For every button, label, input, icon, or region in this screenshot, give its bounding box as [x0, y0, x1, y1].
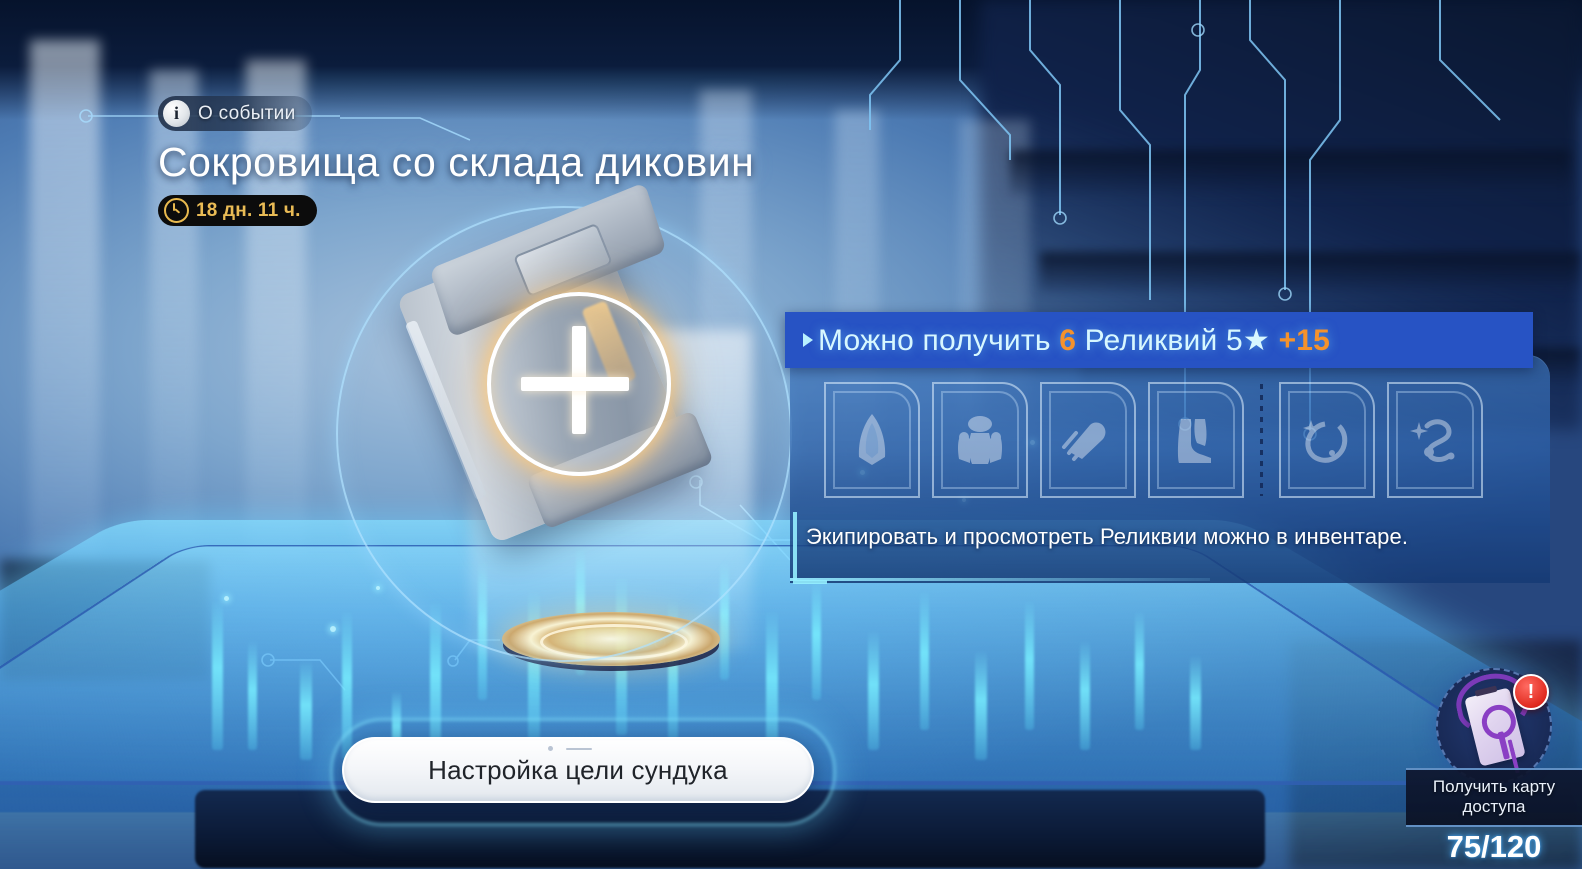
key-icon	[1478, 701, 1519, 742]
event-timer: 18 дн. 11 ч.	[158, 195, 317, 226]
chest-goal-settings-button[interactable]: Настройка цели сундука	[342, 737, 814, 803]
armor-icon	[952, 413, 1008, 467]
reward-rarity: 5	[1226, 324, 1243, 357]
gloves-icon	[1060, 413, 1116, 467]
timer-text: 18 дн. 11 ч.	[196, 200, 301, 222]
triangle-right-icon	[803, 333, 813, 347]
event-header: i О событии Сокровища со склада диковин …	[158, 96, 754, 228]
reward-count: 6	[1059, 324, 1076, 357]
relic-slot-list	[824, 382, 1483, 498]
game-event-screen: i О событии Сокровища со склада диковин …	[0, 0, 1582, 869]
star-icon: ★	[1243, 324, 1270, 357]
boots-icon	[1169, 413, 1223, 467]
orb-icon	[1299, 412, 1355, 468]
relic-slot-body[interactable]	[932, 382, 1028, 498]
inventory-note: Экипировать и просмотреть Реликвии можно…	[806, 524, 1546, 550]
reward-banner-text: Можно получить 6 Реликвий 5★ +15	[818, 323, 1330, 358]
reward-bonus: +15	[1279, 324, 1331, 357]
access-card-label-line1: Получить карту	[1410, 777, 1578, 797]
link-rope-icon	[1407, 412, 1463, 468]
add-chest-button[interactable]	[487, 292, 671, 476]
chest-goal-settings-label: Настройка цели сундука	[428, 755, 728, 786]
button-decor-tick	[566, 748, 592, 750]
relic-slot-sphere[interactable]	[1279, 382, 1375, 498]
access-card-icon[interactable]: !	[1436, 668, 1552, 784]
relic-slot-head[interactable]	[824, 382, 920, 498]
panel-underline	[790, 578, 1210, 581]
access-card-widget[interactable]: ! Получить карту доступа 75/120	[1406, 668, 1582, 865]
info-icon: i	[163, 100, 190, 127]
relic-slot-hands[interactable]	[1040, 382, 1136, 498]
access-card-plate: Получить карту доступа	[1406, 768, 1582, 827]
slot-divider	[1260, 384, 1263, 496]
clock-icon	[164, 198, 189, 223]
relic-slot-feet[interactable]	[1148, 382, 1244, 498]
access-card-count: 75/120	[1406, 829, 1582, 865]
reward-prefix: Можно получить	[818, 324, 1051, 357]
relic-slot-rope[interactable]	[1387, 382, 1483, 498]
access-card-label-line2: доступа	[1410, 797, 1578, 817]
reward-item: Реликвий	[1085, 324, 1218, 357]
about-event-label: О событии	[198, 103, 296, 125]
helmet-icon	[847, 411, 897, 469]
reward-banner[interactable]: Можно получить 6 Реликвий 5★ +15	[785, 312, 1533, 368]
about-event-button[interactable]: i О событии	[158, 96, 312, 131]
page-title: Сокровища со склада диковин	[158, 139, 754, 186]
exclamation-icon: !	[1513, 674, 1549, 710]
